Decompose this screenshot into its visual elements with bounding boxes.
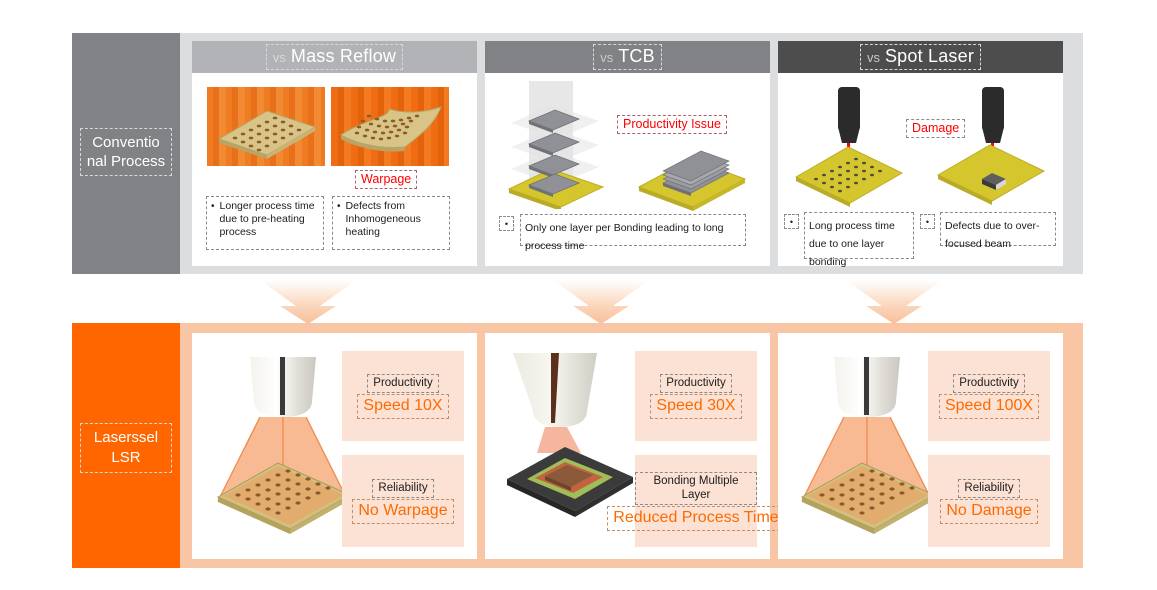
warpage-alert-tag: Warpage (355, 170, 417, 189)
metric-value: No Damage (940, 499, 1037, 524)
metric-card-productivity-1: Productivity Speed 10X (342, 351, 464, 441)
vs-prefix: vs (273, 50, 286, 65)
metric-label: Productivity (953, 374, 1024, 393)
panel-body-spot-laser: Damage • Long process time (778, 73, 1063, 266)
panel-header-mass-reflow: vs Mass Reflow (192, 41, 477, 73)
metric-card-productivity-2: Productivity Speed 30X (635, 351, 757, 441)
panel-spot-laser: vs Spot Laser (778, 41, 1063, 266)
productivity-issue-alert-tag: Productivity Issue (617, 115, 727, 134)
spot-laser-nozzle-pcb-illustration (786, 81, 912, 209)
panel-title: Mass Reflow (291, 46, 396, 67)
header-text-group: vs Mass Reflow (266, 44, 403, 70)
bullet-box-1: Long process time due to one layer bondi… (804, 212, 914, 259)
bullet-text: Only one layer per Bonding leading to lo… (525, 222, 723, 252)
conventional-process-label: Conventio nal Process (80, 128, 172, 176)
panel-lsr-vs-spot-laser: Productivity Speed 100X Reliability No D… (778, 333, 1063, 559)
panel-mass-reflow: vs Mass Reflow (192, 41, 477, 266)
lsr-area-laser-illustration-2 (788, 355, 948, 535)
laserssel-lsr-section: Laserssel LSR (72, 323, 1083, 568)
metric-value: Reduced Process Time (607, 506, 784, 531)
metric-label: Bonding Multiple Layer (635, 472, 757, 505)
slide-canvas: Conventio nal Process vs Mass Reflow (0, 0, 1157, 590)
laserssel-lsr-sidebar: Laserssel LSR (72, 323, 180, 568)
down-arrow-icon-2 (551, 280, 651, 324)
metric-value: Speed 100X (939, 394, 1039, 419)
header-text-group: vs Spot Laser (860, 44, 981, 70)
conventional-process-sidebar: Conventio nal Process (72, 33, 180, 274)
bullet-dot-icon: • (499, 216, 514, 231)
header-text-group: vs TCB (593, 44, 662, 70)
metric-label: Productivity (660, 374, 731, 393)
warped-pcb-illustration (331, 87, 449, 166)
laserssel-lsr-label: Laserssel LSR (80, 423, 172, 473)
tcb-bonded-stack-illustration (633, 145, 751, 217)
metric-card-reliability-3: Reliability No Damage (928, 455, 1050, 547)
bullet-box-1: • Longer process time due to pre-heating… (206, 196, 324, 250)
bullet-text: Defects due to over-focused beam (945, 220, 1040, 250)
panel-body-tcb: Productivity Issue (485, 73, 770, 266)
bullet-dot-icon: • (337, 200, 341, 213)
metric-value: Speed 10X (357, 394, 448, 419)
lsr-area-laser-illustration-1 (204, 355, 364, 535)
panel-header-spot-laser: vs Spot Laser (778, 41, 1063, 73)
bullet-text: Long process time due to one layer bondi… (809, 220, 895, 268)
down-arrow-icon-1 (258, 280, 358, 324)
panel-tcb: vs TCB (485, 41, 770, 266)
bullet-text: Defects from Inhomogeneous heating (346, 200, 444, 239)
conventional-process-section: Conventio nal Process vs Mass Reflow (72, 33, 1083, 274)
down-arrow-icon-3 (844, 280, 944, 324)
panel-header-tcb: vs TCB (485, 41, 770, 73)
bullet-box-2: • Defects from Inhomogeneous heating (332, 196, 450, 250)
spot-laser-damage-illustration (928, 81, 1054, 209)
bullet-dot-icon: • (920, 214, 935, 229)
metric-value: Speed 30X (650, 394, 741, 419)
vs-prefix: vs (867, 50, 880, 65)
panel-body-mass-reflow: Warpage • Longer process time due to pre… (192, 73, 477, 266)
bullet-text: Longer process time due to pre-heating p… (220, 200, 318, 239)
metric-label: Reliability (958, 479, 1019, 498)
metric-card-bonding-2: Bonding Multiple Layer Reduced Process T… (635, 455, 757, 547)
panel-lsr-vs-tcb: Productivity Speed 30X Bonding Multiple … (485, 333, 770, 559)
metric-card-reliability-1: Reliability No Warpage (342, 455, 464, 547)
tcb-layer-stack-illustration (495, 79, 620, 209)
metric-label: Productivity (367, 374, 438, 393)
panel-lsr-vs-mass-reflow: Productivity Speed 10X Reliability No Wa… (192, 333, 477, 559)
bullet-box-2: Defects due to over-focused beam (940, 212, 1056, 246)
bullet-box-1: Only one layer per Bonding leading to lo… (520, 214, 746, 246)
metric-card-productivity-3: Productivity Speed 100X (928, 351, 1050, 441)
vs-prefix: vs (600, 50, 613, 65)
panel-title: Spot Laser (885, 46, 974, 67)
bullet-dot-icon: • (784, 214, 799, 229)
metric-value: No Warpage (352, 499, 453, 524)
metric-label: Reliability (372, 479, 433, 498)
panel-title: TCB (618, 46, 655, 67)
bullet-dot-icon: • (211, 200, 215, 213)
flat-pcb-illustration (207, 87, 325, 166)
